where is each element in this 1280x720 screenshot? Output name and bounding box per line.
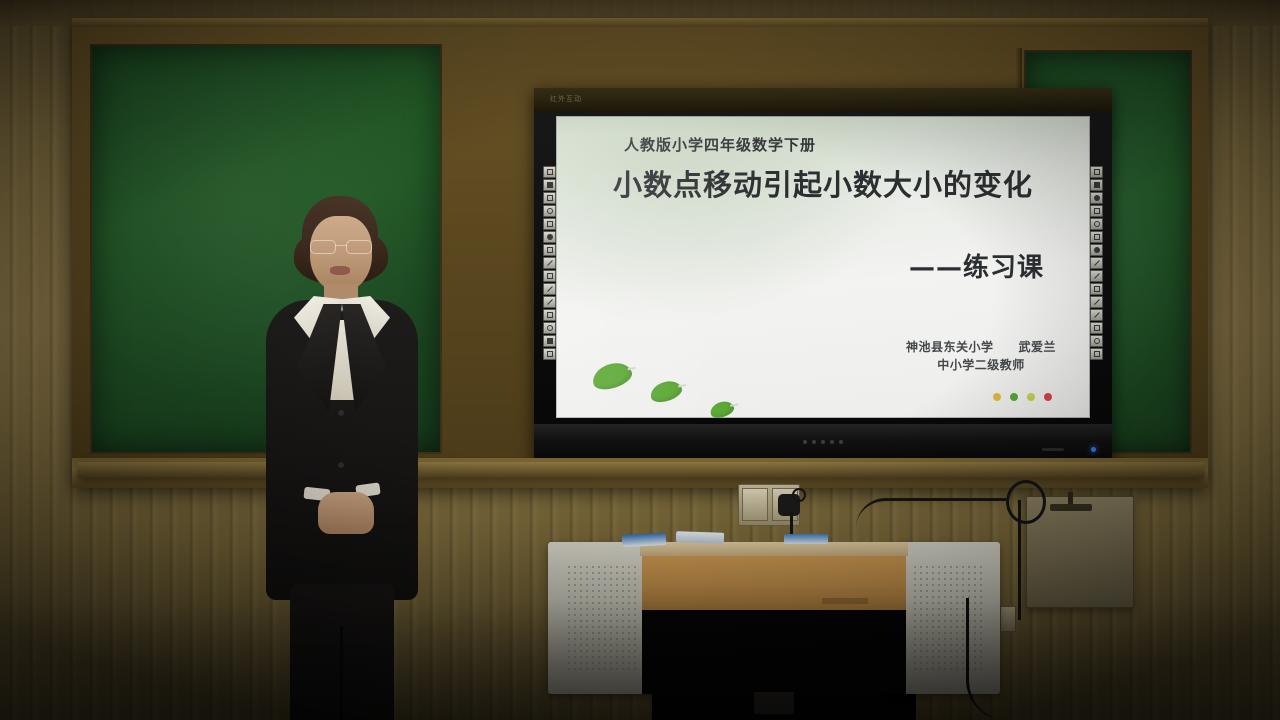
classroom-scene: 红外互动 — [0, 0, 1280, 720]
camera-vignette — [0, 0, 1280, 720]
